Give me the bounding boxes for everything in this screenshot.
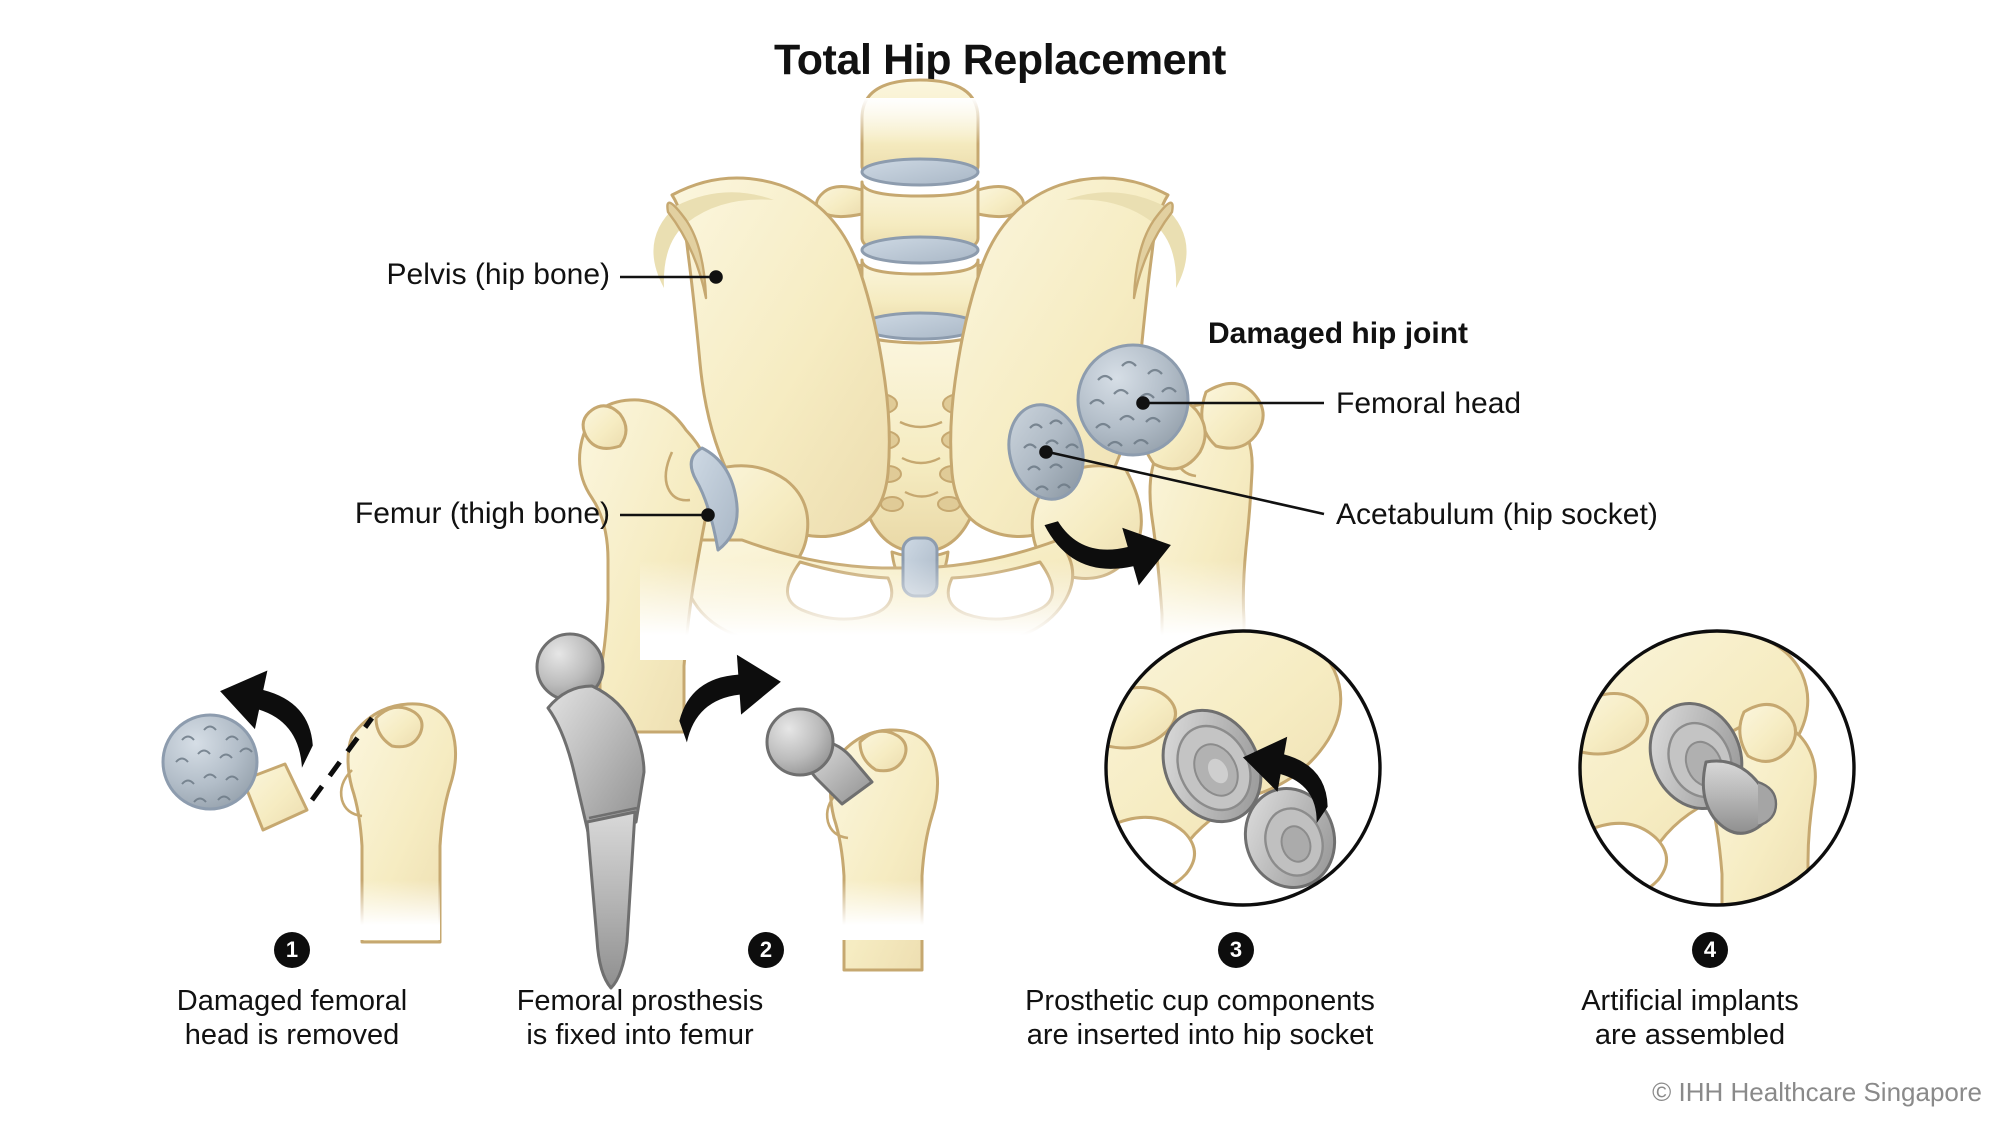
step-caption-2-line1: Femoral prosthesis [470,985,810,1019]
step-caption-4-line2: are assembled [1520,1019,1860,1053]
step1-illustration [163,662,456,942]
step-caption-3-line2: are inserted into hip socket [1000,1019,1400,1053]
step-caption-2-line2: is fixed into femur [470,1019,810,1053]
lumbar-spine [816,80,1023,339]
femur-with-prosthesis [767,709,938,970]
page-title: Total Hip Replacement [0,36,2000,85]
curved-arrow-right-icon [675,652,785,743]
magnified-circle-icon [1106,631,1380,905]
step-caption-1-line1: Damaged femoral [122,985,462,1019]
step-caption-4-line1: Artificial implants [1520,985,1860,1019]
step-caption-4: Artificial implants are assembled [1520,985,1860,1052]
femoral-head-damaged [1078,345,1188,455]
curved-arrow-left-icon [208,662,326,769]
dashed-cut-line-icon [312,718,372,800]
label-pelvis: Pelvis (hip bone) [370,258,610,291]
left-femur [580,400,738,732]
step3-illustration [1062,623,1380,905]
step2-illustration [537,634,938,988]
leader-acetabulum [1048,452,1324,514]
step-caption-1-line2: head is removed [122,1019,462,1053]
step-caption-3: Prosthetic cup components are inserted i… [1000,985,1400,1052]
femoral-prosthesis [537,634,644,988]
step-caption-1: Damaged femoral head is removed [122,985,462,1052]
magnified-circle-icon [1580,631,1854,905]
acetabulum-damaged [998,396,1094,508]
pubic-rami [685,538,1072,650]
acetabular-cup-loose [1233,777,1348,899]
pelvis-group [580,80,1264,732]
removed-femoral-head [163,715,307,830]
acetabular-cup-inserted [1144,693,1280,839]
damaged-hip [998,345,1263,680]
left-ilium [653,178,889,578]
illustration-canvas: Total Hip Replacement [0,0,2000,1125]
step-badge-1: 1 [274,932,310,968]
step-caption-3-line1: Prosthetic cup components [1000,985,1400,1019]
step-badge-3: 3 [1218,932,1254,968]
label-femoral-head: Femoral head [1336,387,1521,420]
leader-lines [620,272,1324,521]
sacrum [845,336,995,646]
step-badge-4: 4 [1692,932,1728,968]
assembled-implant [1634,689,1776,834]
curved-arrow-icon [1045,493,1180,606]
femur-stump [341,704,455,942]
step-caption-2: Femoral prosthesis is fixed into femur [470,985,810,1052]
copyright-notice: © IHH Healthcare Singapore [1652,1077,1982,1108]
label-acetabulum: Acetabulum (hip socket) [1336,498,1658,531]
heading-damaged-hip-joint: Damaged hip joint [1208,317,1468,350]
curved-arrow-left-icon [1234,730,1338,825]
right-ilium [951,178,1187,578]
step-badge-2: 2 [748,932,784,968]
label-femur: Femur (thigh bone) [330,497,610,530]
step4-illustration [1544,629,1854,938]
